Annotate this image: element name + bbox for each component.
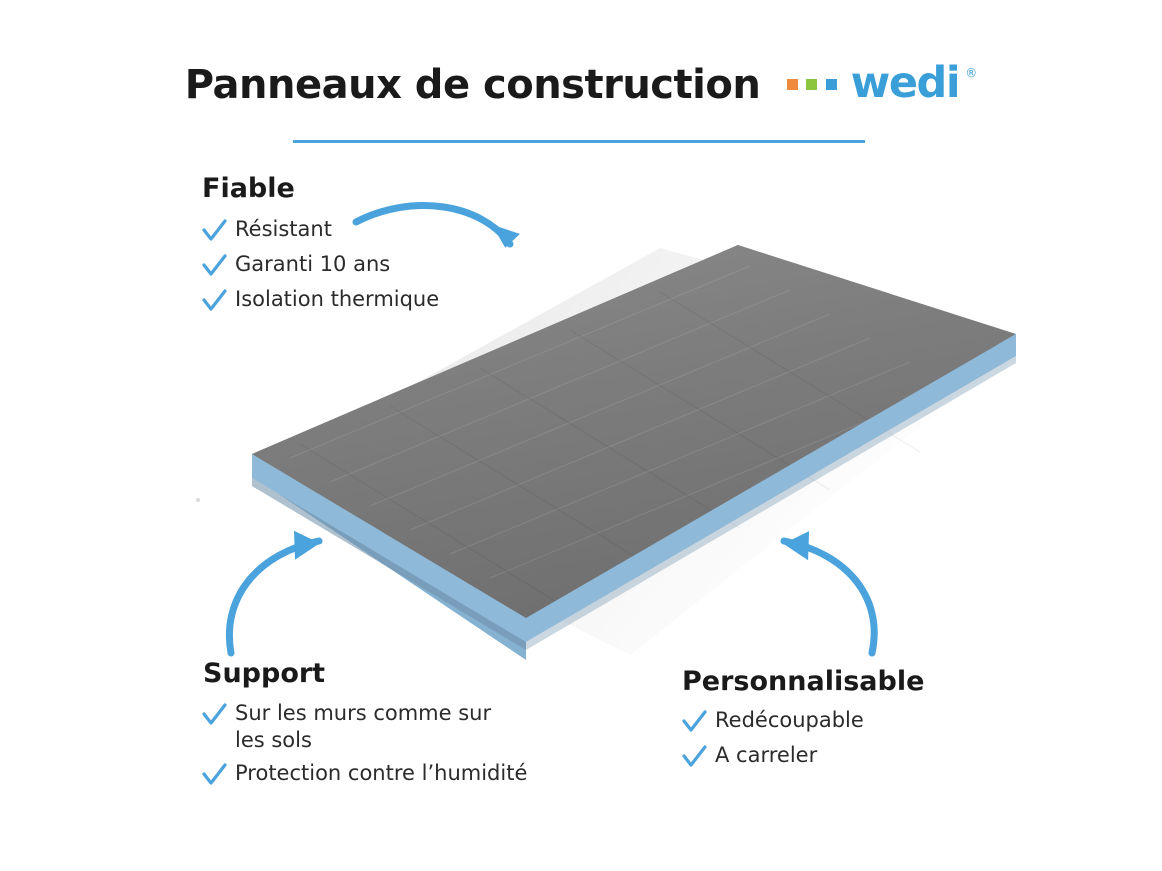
registered-trademark-icon: ® xyxy=(965,66,977,80)
list-item: Redécoupable xyxy=(681,707,1001,736)
arrow-curved-up-left-icon xyxy=(750,525,890,665)
list-item-label: Protection contre l’humidité xyxy=(235,760,527,787)
list-item: Résistant xyxy=(201,216,531,245)
logo-dots-icon xyxy=(787,74,839,93)
page-title: Panneaux de construction xyxy=(185,62,761,108)
header: Panneaux de construction wedi ® xyxy=(0,60,1162,110)
feature-heading-personnalisable: Personnalisable xyxy=(682,666,924,697)
feature-list-personnalisable: Redécoupable A carreler xyxy=(681,707,1001,777)
logo-dot-blue xyxy=(826,79,837,90)
list-item-label: Garanti 10 ans xyxy=(235,251,390,278)
feature-list-fiable: Résistant Garanti 10 ans Isolation therm… xyxy=(201,216,531,321)
check-icon xyxy=(681,745,707,771)
list-item-label: Isolation thermique xyxy=(235,286,439,313)
watermark-dot xyxy=(196,498,200,502)
list-item: Garanti 10 ans xyxy=(201,251,531,280)
list-item: Protection contre l’humidité xyxy=(201,760,561,789)
brand-wordmark: wedi xyxy=(851,58,959,108)
check-icon xyxy=(681,710,707,736)
list-item-label: Redécoupable xyxy=(715,707,864,734)
list-item-label: A carreler xyxy=(715,742,817,769)
arrow-curved-up-right-icon xyxy=(215,525,355,665)
logo-dot-green xyxy=(806,79,817,90)
list-item: Isolation thermique xyxy=(201,286,531,315)
check-icon xyxy=(201,763,227,789)
logo-dot-orange xyxy=(787,79,798,90)
feature-heading-support: Support xyxy=(203,658,325,689)
feature-heading-fiable: Fiable xyxy=(202,173,295,204)
check-icon xyxy=(201,219,227,245)
feature-list-support: Sur les murs comme sur les sols Protecti… xyxy=(201,700,561,795)
title-divider xyxy=(293,140,865,143)
list-item-label: Résistant xyxy=(235,216,332,243)
list-item: A carreler xyxy=(681,742,1001,771)
list-item-label: Sur les murs comme sur les sols xyxy=(235,700,491,754)
list-item: Sur les murs comme sur les sols xyxy=(201,700,561,754)
wedi-logo: wedi ® xyxy=(787,58,977,108)
check-icon xyxy=(201,254,227,280)
check-icon xyxy=(201,289,227,315)
check-icon xyxy=(201,703,227,729)
